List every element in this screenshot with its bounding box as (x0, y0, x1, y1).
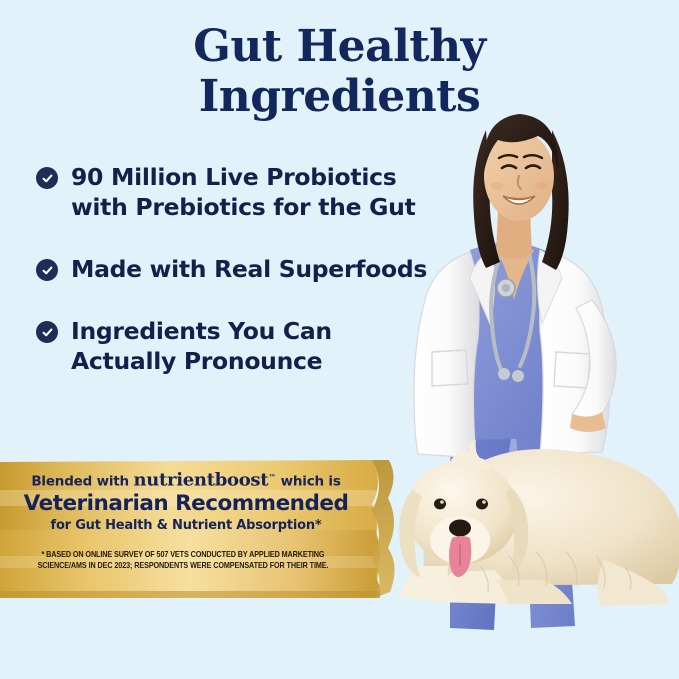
dog-photo (399, 440, 679, 606)
benefit-1-line-2: with Prebiotics for the Gut (71, 192, 415, 222)
banner-subline: for Gut Health & Nutrient Absorption* (0, 517, 372, 535)
benefit-3-line-2: Actually Pronounce (71, 346, 332, 376)
banner-pre-text: Blended with (31, 474, 133, 490)
nutrientboost-brand: nutrientboost (133, 470, 268, 491)
benefit-1-line-1: 90 Million Live Probiotics (71, 163, 396, 191)
list-item-text: Made with Real Superfoods (71, 254, 427, 284)
list-item: Ingredients You Can Actually Pronounce (36, 316, 456, 376)
trademark-symbol: ™ (268, 473, 276, 482)
title-line-1: Gut Healthy (193, 21, 485, 72)
benefits-list: 90 Million Live Probiotics with Prebioti… (36, 162, 456, 376)
banner-post-text: which is (276, 474, 341, 490)
check-circle-icon (36, 321, 58, 343)
promo-graphic: Gut Healthy Ingredients 90 Million Live … (0, 0, 679, 679)
banner-headline: Veterinarian Recommended (0, 491, 372, 517)
benefit-2-line-1: Made with Real Superfoods (71, 255, 427, 283)
banner-footnote: * BASED ON ONLINE SURVEY OF 507 VETS CON… (22, 549, 344, 571)
list-item: 90 Million Live Probiotics with Prebioti… (36, 162, 456, 222)
title-line-2: Ingredients (0, 72, 679, 122)
banner-pre-line: Blended with nutrientboost™ which is (0, 469, 372, 491)
list-item-text: Ingredients You Can Actually Pronounce (71, 316, 332, 376)
page-title: Gut Healthy Ingredients (0, 22, 679, 122)
list-item: Made with Real Superfoods (36, 254, 456, 284)
footnote-line-2: SCIENCE/AMS IN DEC 2023; RESPONDENTS WER… (22, 560, 344, 571)
banner-text-block: Blended with nutrientboost™ which is Vet… (0, 460, 372, 535)
benefit-3-line-1: Ingredients You Can (71, 317, 332, 345)
check-circle-icon (36, 167, 58, 189)
list-item-text: 90 Million Live Probiotics with Prebioti… (71, 162, 415, 222)
check-circle-icon (36, 259, 58, 281)
footnote-line-1: * BASED ON ONLINE SURVEY OF 507 VETS CON… (42, 550, 325, 559)
veterinarian-recommended-banner: Blended with nutrientboost™ which is Vet… (0, 460, 404, 600)
